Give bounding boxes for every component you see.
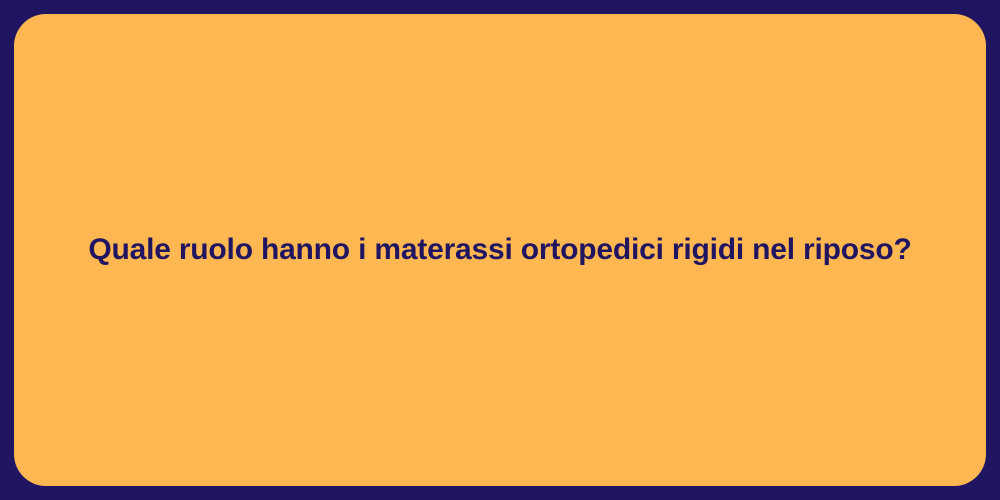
question-headline: Quale ruolo hanno i materassi ortopedici… <box>88 231 911 269</box>
question-card: Quale ruolo hanno i materassi ortopedici… <box>14 14 986 486</box>
question-banner: Quale ruolo hanno i materassi ortopedici… <box>0 0 1000 500</box>
